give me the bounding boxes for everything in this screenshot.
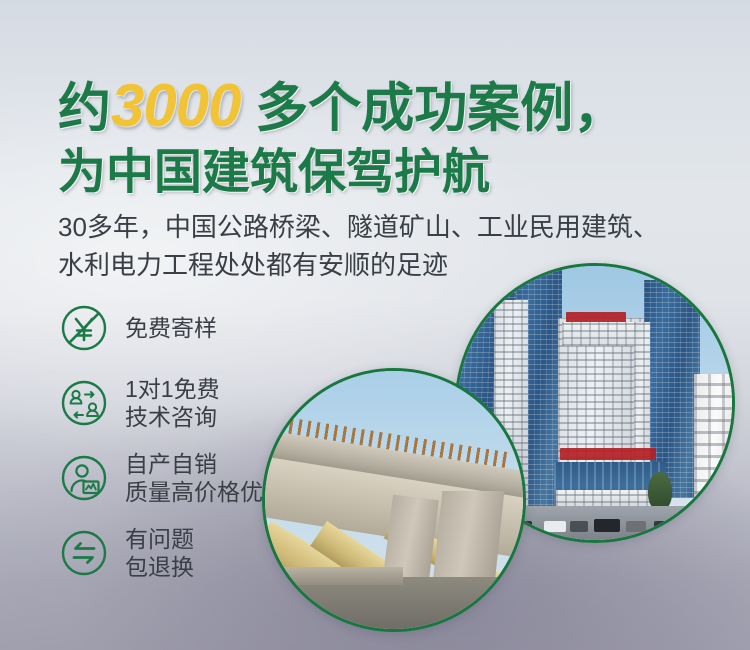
headline-number: 3000 [111, 72, 240, 139]
feature-item-free-sample: 免费寄样 [56, 296, 263, 360]
headline-prefix: 约 [58, 79, 111, 138]
feature-label-free-sample: 免费寄样 [125, 314, 217, 342]
headline: 约3000 多个成功案例， 为中国建筑保驾护航 [58, 76, 626, 197]
return-exchange-icon [56, 525, 112, 581]
headline-line-1: 约3000 多个成功案例， [58, 76, 626, 136]
feature-text-line: 自产自销 [125, 450, 263, 478]
feature-text-line: 1对1免费 [125, 375, 220, 403]
feature-list: 免费寄样 1对1免费 技术咨询 [56, 296, 263, 596]
feature-text-line: 免费寄样 [125, 314, 217, 342]
feature-item-return-exchange: 有问题 包退换 [56, 521, 263, 585]
subtitle-line-1: 30多年，中国公路桥梁、隧道矿山、工业民用建筑、 [58, 209, 659, 247]
headline-line-2: 为中国建筑保驾护航 [58, 149, 626, 197]
bridge-photo [262, 368, 526, 632]
feature-text-line: 质量高价格优 [125, 478, 263, 506]
self-production-icon [56, 450, 112, 506]
headline-suffix: 多个成功案例， [240, 79, 626, 138]
subtitle: 30多年，中国公路桥梁、隧道矿山、工业民用建筑、 水利电力工程处处都有安顺的足迹 [58, 209, 659, 285]
feature-item-self-production: 自产自销 质量高价格优 [56, 446, 263, 510]
feature-item-consultation: 1对1免费 技术咨询 [56, 371, 263, 435]
feature-text-line: 技术咨询 [125, 403, 220, 431]
feature-label-self-production: 自产自销 质量高价格优 [125, 450, 263, 506]
feature-label-return-exchange: 有问题 包退换 [125, 525, 194, 581]
subtitle-line-2: 水利电力工程处处都有安顺的足迹 [58, 247, 659, 285]
free-yuan-icon [56, 300, 112, 356]
feature-text-line: 有问题 [125, 525, 194, 553]
feature-label-consultation: 1对1免费 技术咨询 [125, 375, 220, 431]
feature-text-line: 包退换 [125, 553, 194, 581]
promo-banner: 约3000 多个成功案例， 为中国建筑保驾护航 30多年，中国公路桥梁、隧道矿山… [0, 0, 750, 650]
consultation-icon [56, 375, 112, 431]
